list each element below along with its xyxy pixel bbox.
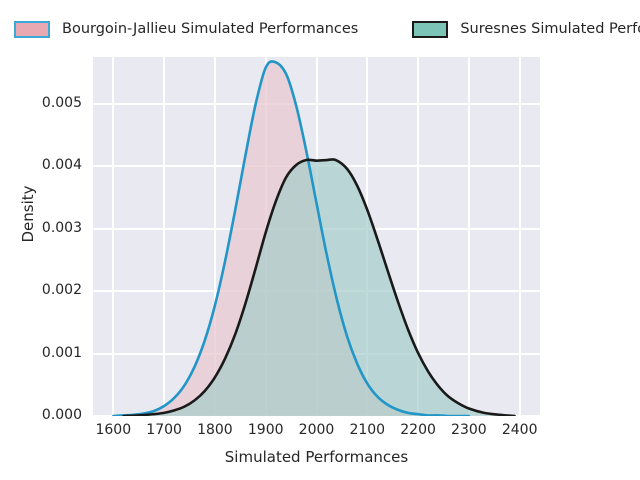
plot-area (93, 57, 540, 416)
density-plot-figure: Bourgoin-Jallieu Simulated Performances … (0, 0, 640, 480)
y-axis-title: Density (19, 114, 37, 314)
y-tick-label: 0.001 (26, 345, 82, 361)
legend-swatch-suresnes (412, 21, 448, 38)
legend-label-suresnes: Suresnes Simulated Performances (460, 21, 640, 37)
legend-item-suresnes[interactable]: Suresnes Simulated Performances (412, 14, 640, 44)
x-tick-label: 2400 (490, 422, 550, 438)
x-axis-title: Simulated Performances (93, 448, 540, 466)
density-fill-suresnes (123, 159, 514, 416)
y-tick-label: 0.000 (26, 407, 82, 423)
y-tick-label: 0.005 (26, 95, 82, 111)
density-curves (93, 57, 540, 416)
legend-item-bourgoin-jallieu[interactable]: Bourgoin-Jallieu Simulated Performances (14, 14, 358, 44)
legend-swatch-bourgoin-jallieu (14, 21, 50, 38)
chart-legend: Bourgoin-Jallieu Simulated Performances … (0, 14, 640, 44)
legend-label-bourgoin-jallieu: Bourgoin-Jallieu Simulated Performances (62, 21, 358, 37)
